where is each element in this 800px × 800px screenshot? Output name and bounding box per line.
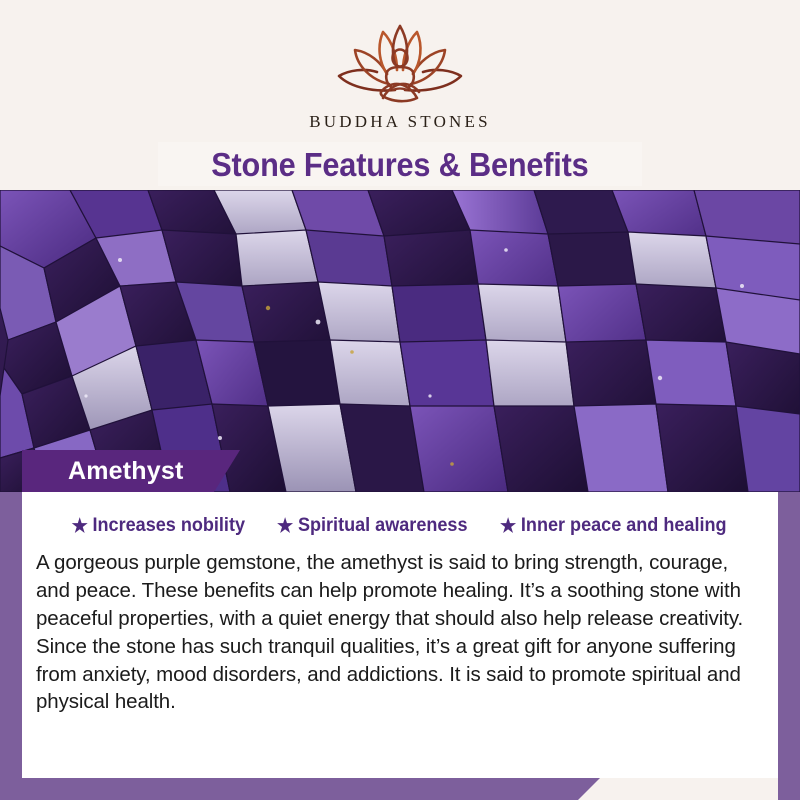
benefit-item-3: ★ Inner peace and healing [500,515,727,537]
benefit-item-2: ★ Spiritual awareness [277,515,467,537]
page-title: Stone Features & Benefits [211,148,588,181]
infographic-card: BUDDHA STONES Stone Features & Benefits [0,0,800,800]
benefit-label: Increases nobility [93,515,245,537]
brand-logo: BUDDHA STONES [0,18,800,132]
benefit-item-1: ★ Increases nobility [72,515,245,537]
stone-photo [0,190,800,492]
content-panel: ★ Increases nobility ★ Spiritual awarene… [22,492,778,778]
star-icon: ★ [277,517,293,536]
title-banner: Stone Features & Benefits [158,142,642,186]
benefits-list: ★ Increases nobility ★ Spiritual awarene… [22,492,778,537]
star-icon: ★ [72,517,88,536]
benefit-label: Spiritual awareness [298,515,468,537]
stone-name: Amethyst [68,457,184,486]
amethyst-crystal-cluster-illustration [0,190,800,492]
stone-description: A gorgeous purple gemstone, the amethyst… [36,549,762,716]
star-icon: ★ [500,517,516,536]
header: BUDDHA STONES Stone Features & Benefits [0,0,800,190]
brand-name: BUDDHA STONES [309,112,491,132]
lotus-meditation-figure-icon [325,18,475,110]
frame-band-left [0,492,22,800]
benefit-label: Inner peace and healing [521,515,727,537]
stone-name-banner: Amethyst [22,450,240,492]
frame-band-bottom [0,778,600,800]
